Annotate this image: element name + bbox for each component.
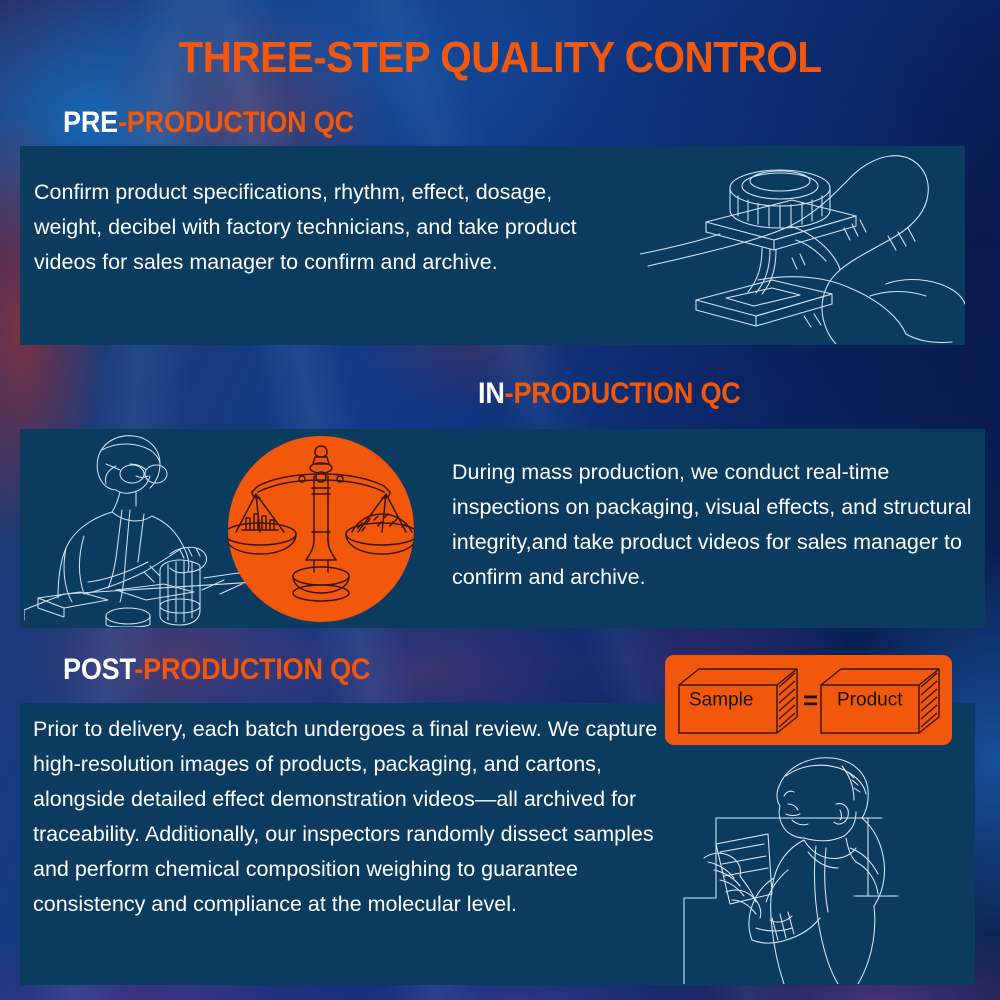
section-heading-post-production-white: POST [63, 653, 134, 686]
page-title: THREE-STEP QUALITY CONTROL [40, 36, 960, 80]
body-text-post-production: Prior to delivery, each batch undergoes … [33, 712, 658, 922]
hand-inspecting-product-sketch-icon [640, 148, 965, 344]
section-heading-post-production: POST-PRODUCTION QC [63, 655, 370, 685]
sample-equals-product-badge: Sample = Product [665, 655, 952, 745]
sample-equals-product-inner: Sample = Product [665, 655, 952, 745]
section-heading-in-production: IN-PRODUCTION QC [478, 379, 741, 409]
product-box-label: Product [837, 691, 902, 710]
inspector-at-table-sketch-icon [24, 430, 256, 627]
section-heading-post-production-orange: -PRODUCTION QC [134, 653, 370, 686]
section-heading-pre-production-white: PRE [63, 106, 118, 139]
section-heading-in-production-orange: -PRODUCTION QC [505, 377, 741, 410]
page-title-text: THREE-STEP QUALITY CONTROL [178, 33, 821, 82]
section-heading-pre-production: PRE-PRODUCTION QC [63, 108, 354, 138]
equals-sign-label: = [803, 687, 818, 713]
body-text-in-production: During mass production, we conduct real-… [452, 455, 982, 595]
body-text-pre-production: Confirm product specifications, rhythm, … [34, 175, 594, 280]
balance-scale-icon [228, 436, 414, 622]
person-with-clipboard-sketch-icon [676, 752, 976, 984]
section-heading-in-production-white: IN [478, 377, 505, 410]
sample-box-label: Sample [689, 691, 753, 710]
section-heading-pre-production-orange: -PRODUCTION QC [118, 106, 354, 139]
